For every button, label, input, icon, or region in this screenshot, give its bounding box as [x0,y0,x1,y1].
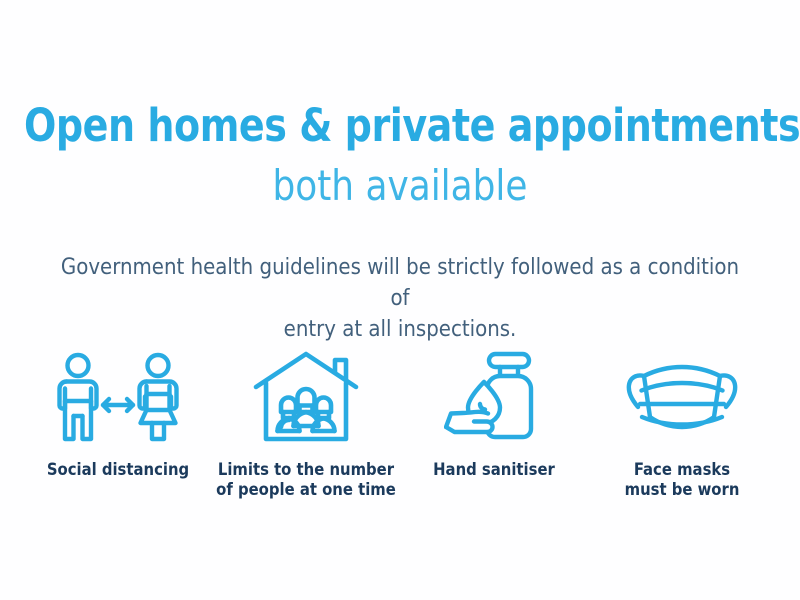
headline-block: Open homes & private appointments both a… [0,98,800,212]
body-copy-line-2: entry at all inspections. [50,314,750,345]
body-copy: Government health guidelines will be str… [50,252,750,345]
safety-measure-social-distancing: Social distancing [24,348,212,480]
face-mask-icon [622,348,742,448]
safety-measures-row: Social distancing [24,348,776,500]
caption-line-1: Hand sanitiser [433,460,555,480]
safety-measure-caption: Limits to the number of people at one ti… [216,460,396,500]
hand-sanitiser-icon [444,348,544,448]
caption-line-1: Social distancing [47,460,189,480]
safety-measure-caption: Hand sanitiser [433,460,555,480]
body-copy-line-1: Government health guidelines will be str… [50,252,750,314]
house-occupancy-limit-icon [252,348,360,448]
caption-line-1: Limits to the number [216,460,396,480]
page-title: Open homes & private appointments [24,98,776,154]
caption-line-2: of people at one time [216,480,396,500]
social-distancing-icon [48,348,188,448]
safety-measure-caption: Face masks must be worn [625,460,740,500]
safety-measure-caption: Social distancing [47,460,189,480]
page-subtitle: both available [20,160,780,212]
covid-safety-poster: Open homes & private appointments both a… [0,0,800,600]
safety-measure-occupancy-limit: Limits to the number of people at one ti… [212,348,400,500]
safety-measure-hand-sanitiser: Hand sanitiser [400,348,588,480]
safety-measure-face-mask: Face masks must be worn [588,348,776,500]
caption-line-1: Face masks [625,460,740,480]
caption-line-2: must be worn [625,480,740,500]
